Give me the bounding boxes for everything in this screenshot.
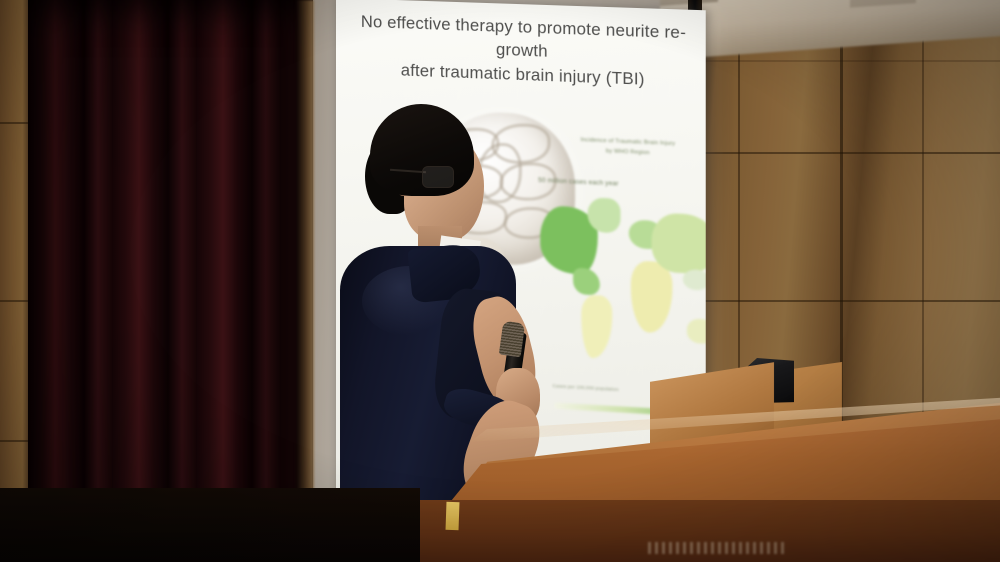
glasses-lens [422, 166, 454, 188]
microphone-grille-icon [499, 321, 526, 358]
tape-marker [446, 502, 460, 530]
slide-title: No effective therapy to promote neurite … [350, 10, 697, 94]
region-southeast-asia [683, 269, 706, 291]
curtain-edge [296, 0, 314, 562]
left-wood-panel [0, 0, 30, 562]
region-asia [652, 212, 706, 274]
region-africa [631, 260, 673, 333]
floor-shadow [0, 488, 420, 562]
region-oceania [687, 318, 706, 344]
podium-nameplate [648, 542, 786, 554]
presentation-scene: No effective therapy to promote neurite … [0, 0, 1000, 562]
region-south-america [581, 294, 612, 359]
stage-curtain [28, 0, 313, 562]
